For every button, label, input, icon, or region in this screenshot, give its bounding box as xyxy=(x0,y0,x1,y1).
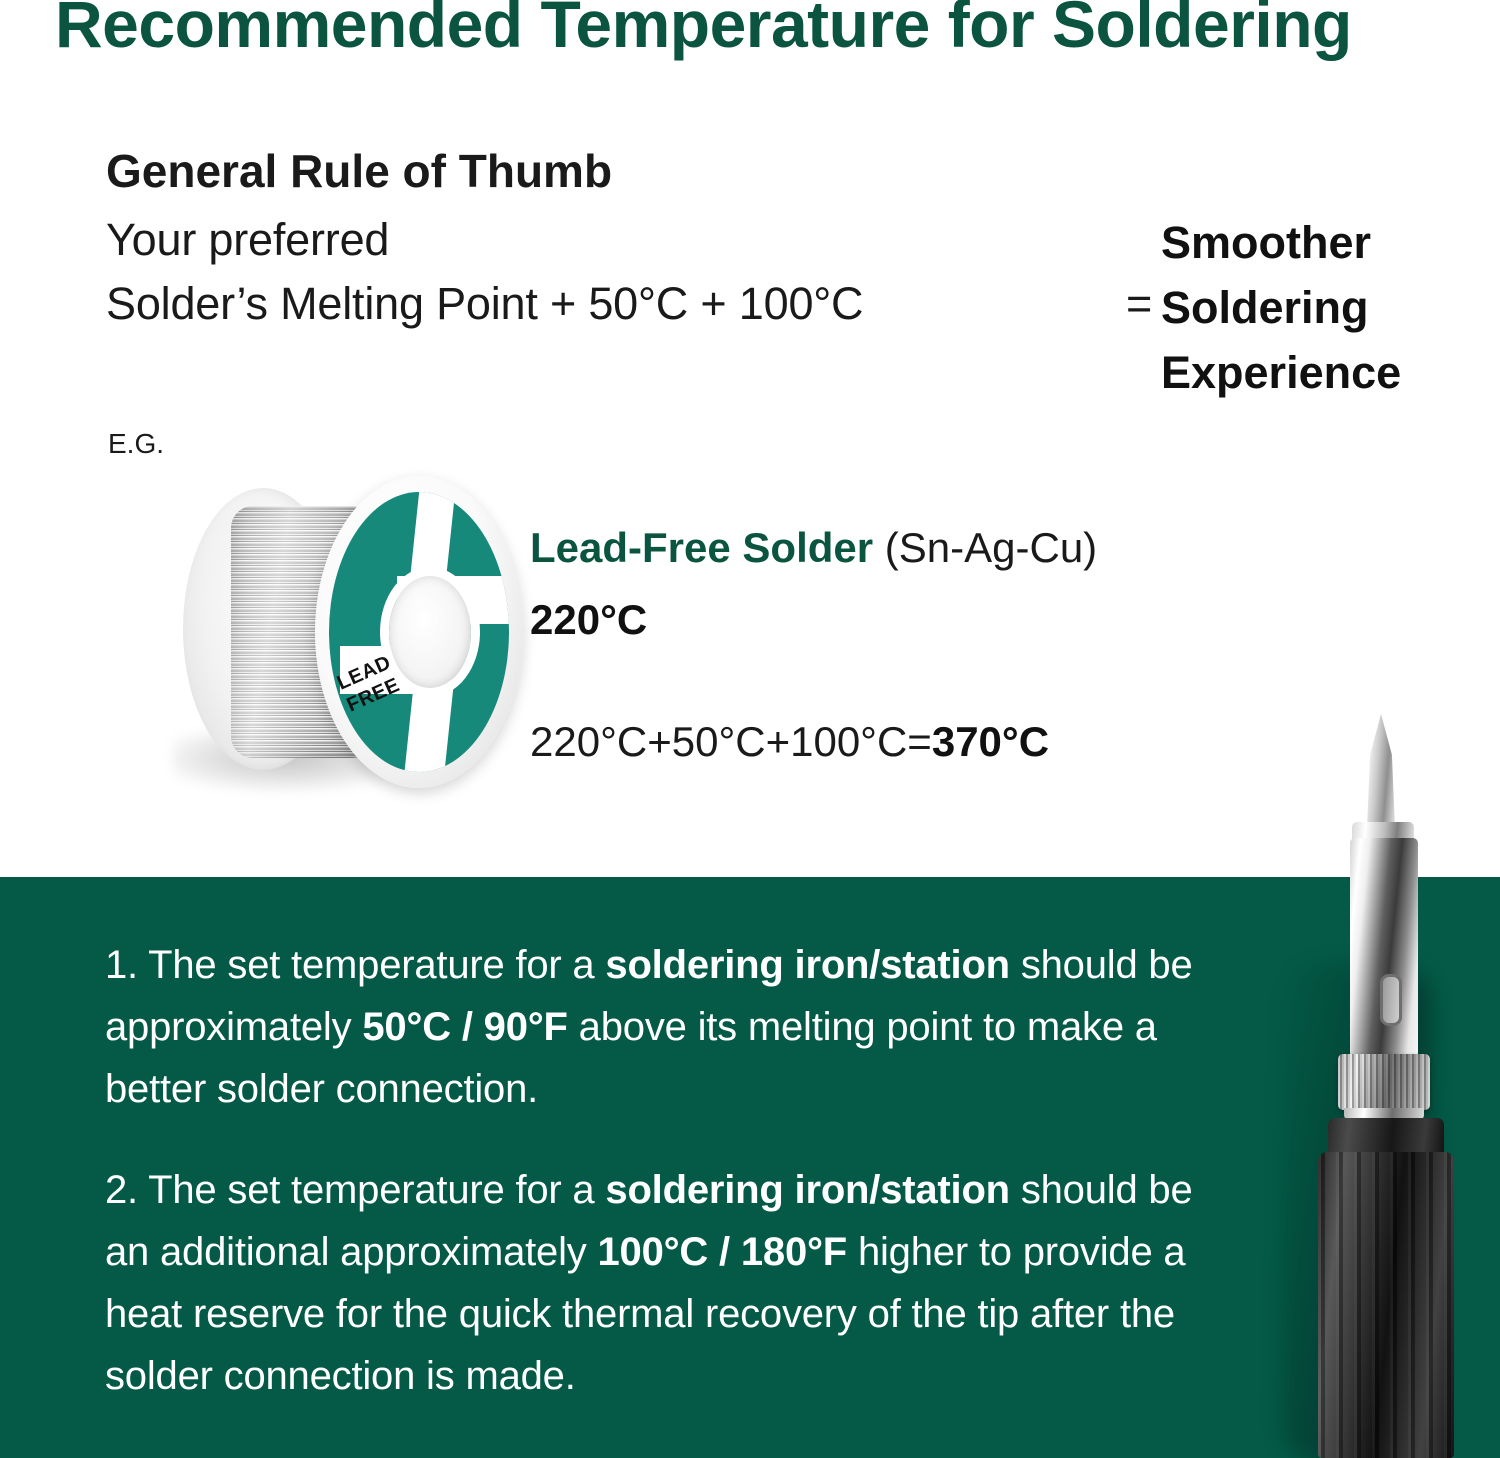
calculation-result: 370°C xyxy=(932,718,1049,765)
label-notch-top xyxy=(410,492,457,582)
solder-spool-image: LEAD FREE xyxy=(165,470,525,810)
solder-type-name: Lead-Free Solder xyxy=(530,524,873,571)
solder-calculation: 220°C+50°C+100°C=370°C xyxy=(530,718,1049,766)
formula-result: Smoother Soldering Experience xyxy=(1161,210,1401,405)
page-title: Recommended Temperature for Soldering xyxy=(55,0,1352,62)
iron-knurled-nut xyxy=(1338,1054,1430,1110)
formula-result-line-3: Experience xyxy=(1161,340,1401,405)
label-notch-bottom-2 xyxy=(403,688,453,772)
soldering-iron-image xyxy=(1300,712,1500,1458)
note-item-2: 2. The set temperature for a soldering i… xyxy=(105,1159,1225,1407)
iron-barrel-slot xyxy=(1380,974,1402,1026)
rule-formula: Your preferred Solder’s Melting Point + … xyxy=(106,210,1406,410)
infographic-page: Recommended Temperature for Soldering Ge… xyxy=(0,0,1500,1458)
note-item-1: 1. The set temperature for a soldering i… xyxy=(105,934,1225,1120)
rule-of-thumb-heading: General Rule of Thumb xyxy=(106,144,612,198)
solder-type-alloy: (Sn-Ag-Cu) xyxy=(873,524,1097,571)
solder-melting-point: 220°C xyxy=(530,596,647,644)
spool-front-flange: LEAD FREE xyxy=(315,476,523,788)
iron-handle-body xyxy=(1318,1152,1454,1458)
formula-line-2: Solder’s Melting Point + 50°C + 100°C xyxy=(106,278,863,330)
notes-panel: 1. The set temperature for a soldering i… xyxy=(0,877,1500,1458)
formula-result-line-1: Smoother xyxy=(1161,210,1401,275)
example-label: E.G. xyxy=(108,428,164,460)
iron-tip-cone xyxy=(1360,714,1402,834)
solder-type-heading: Lead-Free Solder (Sn-Ag-Cu) xyxy=(530,524,1097,572)
formula-line-1: Your preferred xyxy=(106,214,389,266)
formula-result-line-2: Soldering xyxy=(1161,275,1401,340)
calculation-expression: 220°C+50°C+100°C= xyxy=(530,718,932,765)
formula-equals-sign: = xyxy=(1126,278,1152,330)
